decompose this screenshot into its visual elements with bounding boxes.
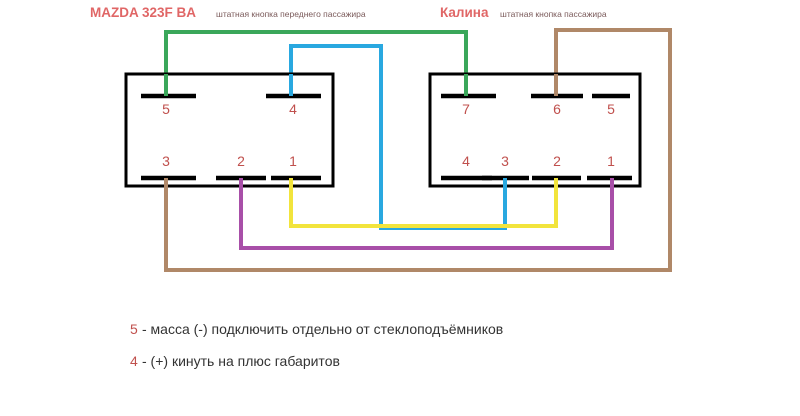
right-connector-subtitle: штатная кнопка пассажира <box>500 9 607 19</box>
connector-left[interactable]: 5 4 3 2 1 <box>126 74 333 186</box>
caption-2-number: 4 <box>130 353 138 369</box>
left-pin-3-label: 3 <box>162 153 170 169</box>
connector-right[interactable]: 7 6 5 4 3 2 1 <box>430 74 640 186</box>
caption-line-1: 5 - масса (-) подключить отдельно от сте… <box>130 321 503 337</box>
right-pin-2-label: 2 <box>553 153 561 169</box>
caption-1-number: 5 <box>130 321 138 337</box>
header-left: MAZDA 323F BA штатная кнопка переднего п… <box>90 5 366 20</box>
left-pin-2-label: 2 <box>237 153 245 169</box>
left-pin-4-label: 4 <box>289 101 297 117</box>
left-pin-1-label: 1 <box>289 153 297 169</box>
left-connector-title: MAZDA 323F BA <box>90 5 196 20</box>
caption-line-2: 4 - (+) кинуть на плюс габаритов <box>130 353 340 369</box>
right-pin-1-label: 1 <box>607 153 615 169</box>
right-pin-5-label: 5 <box>607 101 615 117</box>
right-pin-6-label: 6 <box>553 101 561 117</box>
left-connector-subtitle: штатная кнопка переднего пассажира <box>216 9 366 19</box>
right-connector-title: Калина <box>440 5 489 20</box>
wiring-diagram: MAZDA 323F BA штатная кнопка переднего п… <box>0 0 800 416</box>
right-connector-body[interactable] <box>430 74 640 186</box>
right-pin-3-label: 3 <box>501 153 509 169</box>
right-pin-4-label: 4 <box>462 153 470 169</box>
left-connector-body[interactable] <box>126 74 333 186</box>
caption-1-text: - масса (-) подключить отдельно от стекл… <box>142 321 503 337</box>
caption-2-text: - (+) кинуть на плюс габаритов <box>142 353 340 369</box>
left-pin-5-label: 5 <box>162 101 170 117</box>
right-pin-7-label: 7 <box>462 101 470 117</box>
header-right: Калина штатная кнопка пассажира <box>440 5 607 20</box>
wiring-diagram-canvas: MAZDA 323F BA штатная кнопка переднего п… <box>0 0 800 416</box>
